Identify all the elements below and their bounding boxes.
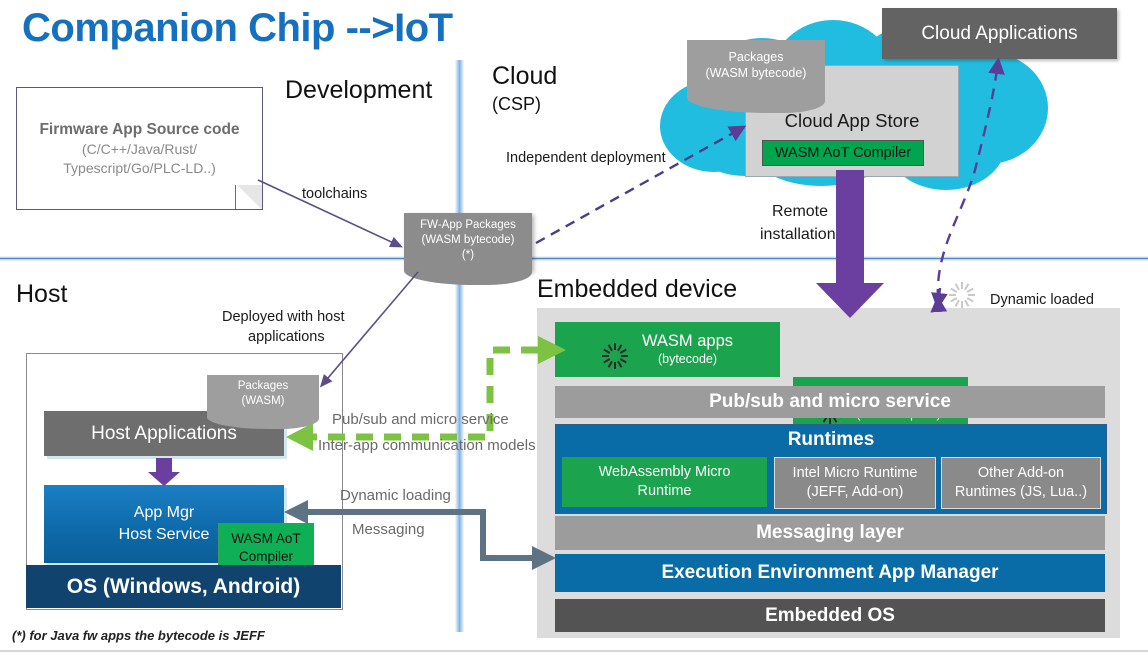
- app0-line1: WASM apps: [642, 332, 733, 351]
- label-messaging: Messaging: [352, 521, 425, 538]
- firmware-source-box: Firmware App Source code (C/C++/Java/Rus…: [16, 87, 263, 210]
- firmware-line2: (C/C++/Java/Rust/: [82, 140, 197, 159]
- section-heading-cloud: Cloud: [492, 62, 557, 91]
- runtime2-line2: Runtimes (JS, Lua..): [955, 483, 1087, 502]
- label-remote-line1: Remote: [772, 203, 828, 221]
- firmware-callout-tail: [235, 185, 262, 209]
- fw-packages-line1: FW-App Packages: [404, 218, 532, 233]
- bottom-rule: [0, 650, 1148, 652]
- runtime0-line1: WebAssembly Micro: [599, 463, 731, 482]
- host-packages-line1: Packages: [207, 379, 319, 394]
- label-independent-deployment: Independent deployment: [506, 150, 666, 166]
- runtime1-line1: Intel Micro Runtime: [793, 464, 918, 483]
- embedded-device-panel: WASM apps (bytecode) WASM apps (AoT comp…: [537, 308, 1120, 638]
- cloud-packages-line2: (WASM bytecode): [687, 65, 825, 81]
- embedded-messaging-layer: Messaging layer: [555, 516, 1105, 550]
- label-remote-line2: installation: [760, 226, 836, 244]
- app0-line2: (bytecode): [642, 351, 733, 367]
- embedded-app-wasm-bytecode: WASM apps (bytecode): [555, 322, 780, 377]
- cloud-packages-callout: Packages (WASM bytecode): [687, 40, 825, 98]
- embedded-os-bar: Embedded OS: [555, 599, 1105, 632]
- section-heading-embedded: Embedded device: [537, 275, 737, 304]
- footnote: (*) for Java fw apps the bytecode is JEF…: [12, 628, 265, 643]
- label-toolchains: toolchains: [302, 186, 367, 202]
- fw-packages-line3: (*): [404, 248, 532, 263]
- dynamic-loaded-icon: [602, 337, 628, 363]
- embedded-pubsub-bar: Pub/sub and micro service: [555, 386, 1105, 418]
- host-packages-callout: Packages (WASM): [207, 375, 319, 417]
- label-interapp-communication: Inter-app communication models: [318, 437, 536, 454]
- horizontal-divider: [0, 256, 1148, 261]
- embedded-runtimes-group: Runtimes WebAssembly Micro Runtime Intel…: [555, 424, 1107, 514]
- firmware-line3: Typescript/Go/PLC-LD..): [63, 159, 216, 178]
- app-mgr-line2: Host Service: [119, 524, 210, 546]
- cloud-applications-box: Cloud Applications: [882, 8, 1117, 59]
- app-mgr-line1: App Mgr: [134, 502, 194, 524]
- vertical-divider: [455, 60, 464, 632]
- slide-canvas: Companion Chip -->IoT Development Cloud …: [0, 0, 1148, 653]
- runtime-webassembly-micro: WebAssembly Micro Runtime: [562, 457, 767, 507]
- label-deployed-line2: applications: [248, 329, 325, 345]
- label-dynamic-loading: Dynamic loading: [340, 487, 451, 504]
- runtime0-line2: Runtime: [638, 482, 692, 501]
- runtime1-line2: (JEFF, Add-on): [807, 483, 904, 502]
- label-deployed-line1: Deployed with host: [222, 309, 345, 325]
- runtime-other-addon: Other Add-on Runtimes (JS, Lua..): [941, 457, 1101, 509]
- fw-packages-line2: (WASM bytecode): [404, 233, 532, 248]
- section-heading-development: Development: [285, 76, 432, 105]
- host-aot-line1: WASM AoT: [231, 530, 300, 548]
- host-aot-line2: Compiler: [239, 548, 293, 566]
- arrow-remote-installation: [816, 170, 884, 318]
- host-os-bar: OS (Windows, Android): [26, 565, 341, 608]
- embedded-execution-app-manager: Execution Environment App Manager: [555, 554, 1105, 592]
- page-title: Companion Chip -->IoT: [22, 0, 662, 56]
- section-heading-cloud-sub: (CSP): [492, 94, 541, 115]
- callout-wave-bottom: [404, 268, 532, 285]
- dynamic-loaded-label: Dynamic loaded: [990, 292, 1094, 308]
- host-packages-line2: (WASM): [207, 394, 319, 409]
- firmware-heading: Firmware App Source code: [39, 120, 239, 140]
- cloud-packages-line1: Packages: [687, 49, 825, 65]
- cloud-app-store-label: Cloud App Store: [746, 110, 958, 132]
- embedded-runtimes-title: Runtimes: [556, 425, 1106, 454]
- cloud-wasm-aot-compiler: WASM AoT Compiler: [762, 140, 924, 166]
- runtime2-line1: Other Add-on: [978, 464, 1064, 483]
- fw-app-packages-callout: FW-App Packages (WASM bytecode) (*): [404, 213, 532, 271]
- section-heading-host: Host: [16, 280, 67, 309]
- runtime-intel-micro: Intel Micro Runtime (JEFF, Add-on): [774, 457, 936, 509]
- label-pubsub-micro-service: Pub/sub and micro service: [332, 411, 509, 428]
